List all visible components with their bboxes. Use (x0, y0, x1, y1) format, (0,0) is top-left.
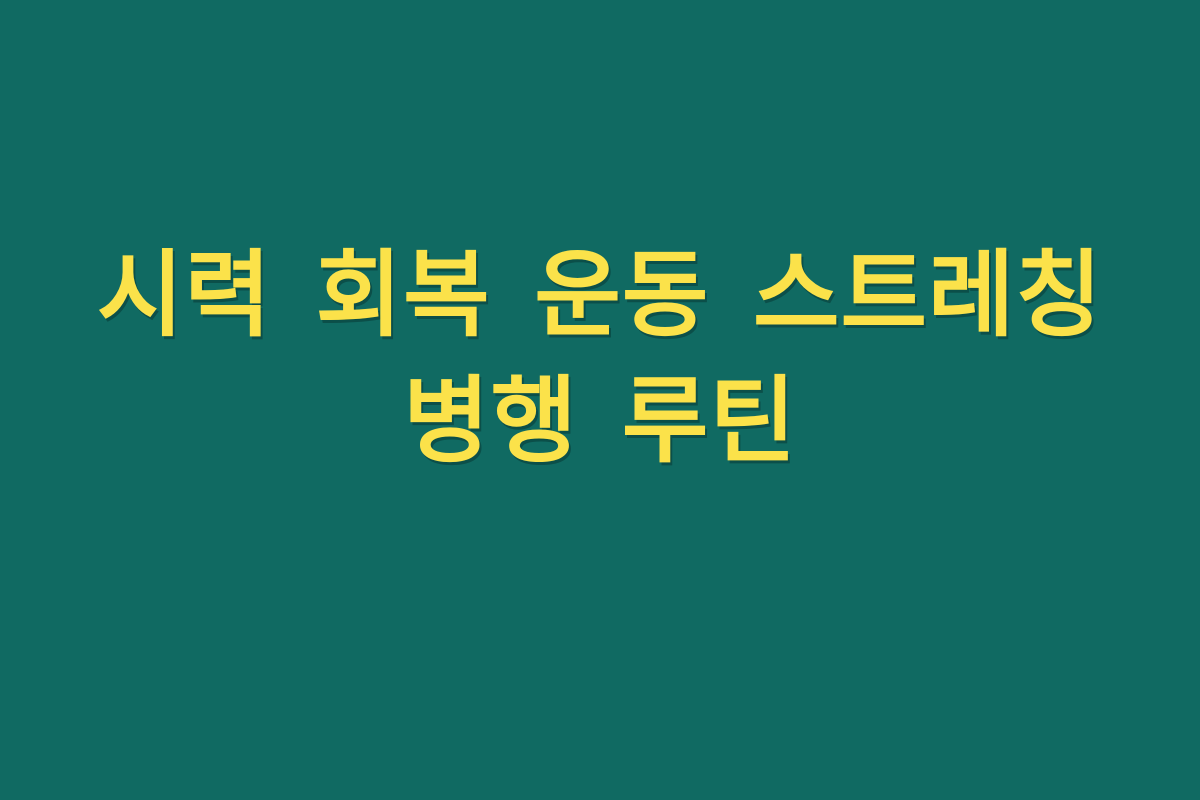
banner-title-line-1: 시력 회복 운동 스트레칭 (50, 233, 1150, 359)
text-banner: 시력 회복 운동 스트레칭 병행 루틴 (0, 0, 1200, 800)
banner-title-block: 시력 회복 운동 스트레칭 병행 루틴 (50, 233, 1150, 485)
banner-title-line-2: 병행 루틴 (50, 359, 1150, 485)
